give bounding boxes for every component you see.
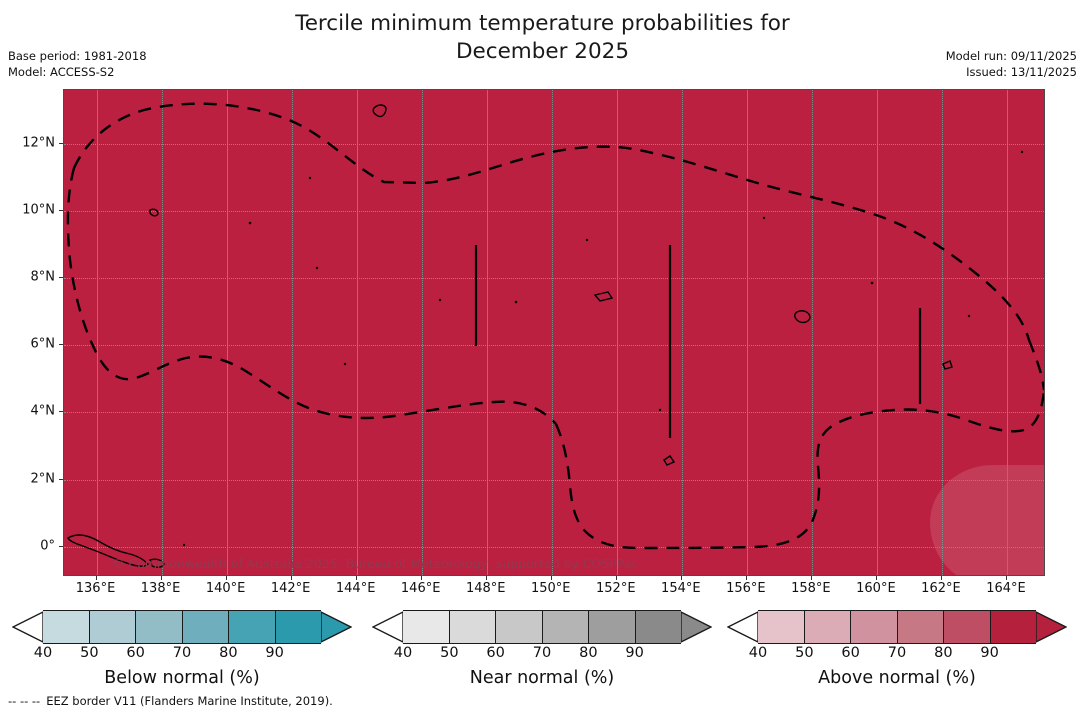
colorbar-over-arrow bbox=[321, 610, 352, 644]
colorbar-tick-label: 80 bbox=[219, 645, 237, 661]
colorbar-segment bbox=[944, 611, 991, 643]
island-speck bbox=[316, 267, 318, 269]
eez-dash-sample: -- -- -- bbox=[8, 694, 40, 708]
map-vector-overlay bbox=[64, 90, 1044, 575]
x-tick-label: 156°E bbox=[726, 581, 766, 596]
y-tick-mark bbox=[59, 411, 63, 412]
y-tick-mark bbox=[59, 210, 63, 211]
colorbar-tick-label: 90 bbox=[265, 645, 283, 661]
colorbar-over-arrow bbox=[681, 610, 712, 644]
colorbar-under-arrow bbox=[372, 610, 403, 644]
colorbar-segment bbox=[229, 611, 276, 643]
island-shape-small-2 bbox=[373, 105, 386, 117]
colorbar-under-arrow bbox=[12, 610, 43, 644]
island-specks bbox=[183, 151, 1023, 546]
island-speck bbox=[968, 315, 970, 317]
island-shape-small-3 bbox=[150, 209, 158, 216]
y-tick-label: 8°N bbox=[0, 270, 55, 285]
colorbar-label: Above normal (%) bbox=[727, 668, 1067, 688]
issued-text: Issued: 13/11/2025 bbox=[946, 65, 1077, 81]
colorbar-segment bbox=[543, 611, 590, 643]
island-shape-small-5 bbox=[595, 292, 612, 301]
colorbar-segments bbox=[758, 610, 1036, 644]
x-tick-label: 140°E bbox=[206, 581, 246, 596]
colorbar-tick-label: 70 bbox=[173, 645, 191, 661]
y-tick-mark bbox=[59, 143, 63, 144]
island-speck bbox=[586, 239, 588, 241]
eez-border-west-south bbox=[68, 168, 556, 424]
island-speck bbox=[344, 363, 346, 365]
island-speck bbox=[183, 544, 185, 546]
colorbar-segments bbox=[43, 610, 321, 644]
colorbar-segment bbox=[636, 611, 682, 643]
island-speck bbox=[439, 299, 441, 301]
colorbar-segment bbox=[90, 611, 137, 643]
island-shape-small-6 bbox=[664, 456, 674, 465]
eez-border-line bbox=[68, 104, 1044, 548]
colorbar-tick-label: 60 bbox=[486, 645, 504, 661]
island-speck bbox=[249, 222, 252, 225]
island-speck bbox=[1021, 151, 1023, 153]
colorbar-segment bbox=[136, 611, 183, 643]
x-tick-mark bbox=[941, 576, 942, 580]
colorbar-tick-label: 70 bbox=[888, 645, 906, 661]
x-tick-label: 142°E bbox=[271, 581, 311, 596]
page-title: Tercile minimum temperature probabilitie… bbox=[0, 10, 1085, 66]
x-tick-mark bbox=[421, 576, 422, 580]
x-tick-mark bbox=[551, 576, 552, 580]
x-tick-label: 152°E bbox=[596, 581, 636, 596]
map-plot-area: © Commonwealth of Australia 2025, Bureau… bbox=[63, 89, 1045, 576]
colorbar-label: Near normal (%) bbox=[372, 668, 712, 688]
colorbar-segment bbox=[758, 611, 805, 643]
island-speck bbox=[515, 301, 518, 304]
island-shape-small-4 bbox=[795, 311, 810, 323]
colorbar-tick-label: 90 bbox=[980, 645, 998, 661]
coastline-fragments bbox=[476, 245, 920, 438]
y-tick-label: 12°N bbox=[0, 135, 55, 150]
x-tick-label: 146°E bbox=[401, 581, 441, 596]
colorbar-segment bbox=[183, 611, 230, 643]
metadata-right: Model run: 09/11/2025 Issued: 13/11/2025 bbox=[946, 49, 1077, 80]
colorbar-segment bbox=[403, 611, 450, 643]
eez-border-southeast bbox=[556, 390, 1044, 548]
x-tick-label: 158°E bbox=[791, 581, 831, 596]
x-tick-mark bbox=[226, 576, 227, 580]
y-tick-label: 4°N bbox=[0, 404, 55, 419]
y-tick-label: 2°N bbox=[0, 471, 55, 486]
x-tick-label: 136°E bbox=[76, 581, 116, 596]
y-tick-mark bbox=[59, 546, 63, 547]
x-tick-label: 160°E bbox=[856, 581, 896, 596]
y-tick-label: 6°N bbox=[0, 337, 55, 352]
eez-footnote-text: EEZ border V11 (Flanders Marine Institut… bbox=[46, 694, 333, 708]
base-period-text: Base period: 1981-2018 bbox=[8, 49, 147, 65]
colorbar-tick-label: 50 bbox=[80, 645, 98, 661]
x-tick-label: 162°E bbox=[921, 581, 961, 596]
colorbar-tick-label: 90 bbox=[625, 645, 643, 661]
colorbar-under-arrow bbox=[727, 610, 758, 644]
island-speck bbox=[659, 409, 661, 411]
x-tick-mark bbox=[356, 576, 357, 580]
colorbar-segment bbox=[43, 611, 90, 643]
colorbar-tick-label: 50 bbox=[440, 645, 458, 661]
y-tick-mark bbox=[59, 479, 63, 480]
island-speck bbox=[871, 282, 874, 285]
colorbar-ticks: 405060708090 bbox=[12, 645, 352, 665]
colorbar-segment bbox=[898, 611, 945, 643]
colorbar-ticks: 405060708090 bbox=[372, 645, 712, 665]
colorbar-segment bbox=[276, 611, 322, 643]
colorbar-label: Below normal (%) bbox=[12, 668, 352, 688]
colorbar-tick-label: 80 bbox=[934, 645, 952, 661]
colorbar-above-normal: 405060708090 Above normal (%) bbox=[727, 610, 1067, 688]
x-tick-mark bbox=[291, 576, 292, 580]
colorbar-tick-label: 50 bbox=[795, 645, 813, 661]
x-tick-label: 144°E bbox=[336, 581, 376, 596]
island-shape-main bbox=[68, 535, 148, 566]
x-tick-label: 164°E bbox=[986, 581, 1026, 596]
metadata-left: Base period: 1981-2018 Model: ACCESS-S2 bbox=[8, 49, 147, 80]
x-tick-mark bbox=[616, 576, 617, 580]
y-tick-mark bbox=[59, 277, 63, 278]
colorbar-segment bbox=[496, 611, 543, 643]
colorbar-tick-label: 40 bbox=[749, 645, 767, 661]
colorbar-segment bbox=[589, 611, 636, 643]
colorbar-segment bbox=[991, 611, 1037, 643]
colorbar-segment bbox=[805, 611, 852, 643]
colorbar-tick-label: 60 bbox=[841, 645, 859, 661]
x-tick-mark bbox=[811, 576, 812, 580]
island-speck bbox=[763, 217, 765, 219]
colorbar-tick-label: 40 bbox=[394, 645, 412, 661]
x-tick-label: 154°E bbox=[661, 581, 701, 596]
x-tick-label: 138°E bbox=[141, 581, 181, 596]
eez-border-east bbox=[1029, 340, 1044, 390]
model-text: Model: ACCESS-S2 bbox=[8, 65, 147, 81]
eez-border-north bbox=[74, 104, 1029, 340]
colorbar-near-normal: 405060708090 Near normal (%) bbox=[372, 610, 712, 688]
colorbar-segment bbox=[851, 611, 898, 643]
colorbar-segments bbox=[403, 610, 681, 644]
island-shape-small-7 bbox=[943, 361, 952, 369]
eez-footnote: -- -- -- EEZ border V11 (Flanders Marine… bbox=[8, 694, 333, 708]
island-shape-small-1 bbox=[150, 559, 164, 567]
colorbar-below-normal: 405060708090 Below normal (%) bbox=[12, 610, 352, 688]
x-tick-mark bbox=[876, 576, 877, 580]
model-run-text: Model run: 09/11/2025 bbox=[946, 49, 1077, 65]
colorbar-over-arrow bbox=[1036, 610, 1067, 644]
colorbar-tick-label: 80 bbox=[579, 645, 597, 661]
y-tick-mark bbox=[59, 344, 63, 345]
x-tick-mark bbox=[1006, 576, 1007, 580]
x-tick-mark bbox=[746, 576, 747, 580]
x-tick-mark bbox=[486, 576, 487, 580]
x-tick-label: 150°E bbox=[531, 581, 571, 596]
x-tick-mark bbox=[96, 576, 97, 580]
x-tick-label: 148°E bbox=[466, 581, 506, 596]
colorbar-ticks: 405060708090 bbox=[727, 645, 1067, 665]
x-tick-mark bbox=[681, 576, 682, 580]
colorbar-segment bbox=[450, 611, 497, 643]
y-tick-label: 10°N bbox=[0, 202, 55, 217]
colorbar-tick-label: 40 bbox=[34, 645, 52, 661]
island-speck bbox=[309, 177, 311, 179]
colorbar-tick-label: 70 bbox=[533, 645, 551, 661]
x-tick-mark bbox=[161, 576, 162, 580]
colorbar-tick-label: 60 bbox=[126, 645, 144, 661]
y-tick-label: 0° bbox=[0, 538, 55, 553]
